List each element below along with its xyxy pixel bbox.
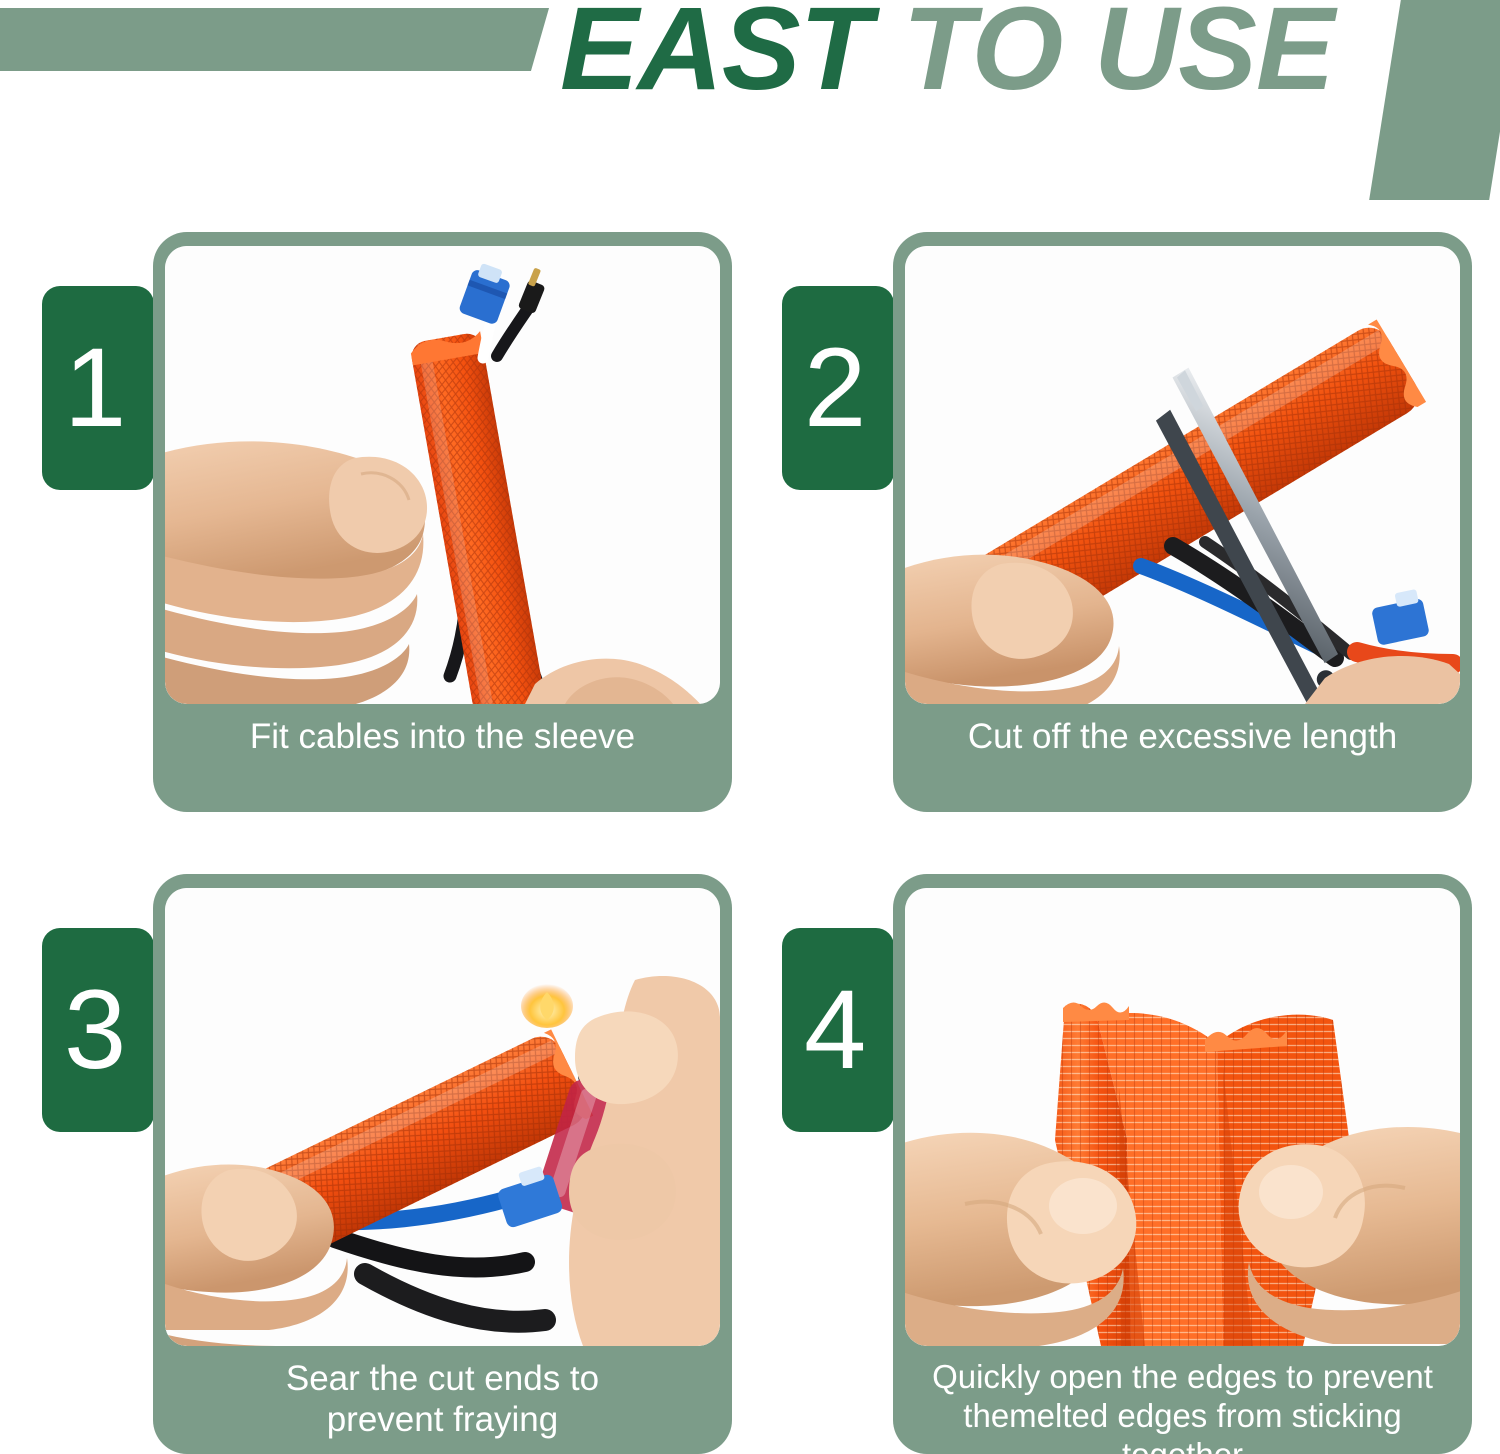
illustration-lighter-searing-sleeve: 90 — [165, 888, 720, 1346]
step-card-frame: 90 — [153, 874, 732, 1454]
step-photo-4 — [905, 888, 1460, 1346]
page-header: EAST TO USE — [0, 0, 1500, 215]
step-number-badge: 2 — [782, 286, 894, 490]
steps-grid: 1 — [0, 232, 1500, 1446]
step-caption: Cut off the excessive length — [893, 704, 1472, 812]
step-number-badge: 1 — [42, 286, 154, 490]
step-caption: Quickly open the edges to prevent themel… — [893, 1346, 1472, 1454]
step-number-badge: 4 — [782, 928, 894, 1132]
step-card-frame: Quickly open the edges to prevent themel… — [893, 874, 1472, 1454]
step-caption-text: Sear the cut ends to prevent fraying — [276, 1358, 609, 1441]
step-caption-text: Cut off the excessive length — [958, 716, 1407, 757]
step-card-2: 2 — [782, 232, 1472, 812]
step-number-label: 4 — [804, 974, 866, 1086]
step-number-label: 2 — [804, 332, 866, 444]
page-title-primary: EAST — [560, 0, 871, 115]
step-card-4: 4 — [782, 874, 1472, 1454]
step-photo-3: 90 — [165, 888, 720, 1346]
header-accent-bar-right — [1369, 0, 1500, 200]
step-card-1: 1 — [42, 232, 732, 812]
step-photo-1 — [165, 246, 720, 704]
page-title-secondary: TO USE — [871, 0, 1334, 115]
illustration-scissors-cutting-sleeve — [905, 246, 1460, 704]
step-number-label: 3 — [64, 974, 126, 1086]
step-caption-text: Fit cables into the sleeve — [240, 716, 645, 757]
page-title: EAST TO USE — [560, 0, 1334, 108]
step-card-frame: Fit cables into the sleeve — [153, 232, 732, 812]
step-photo-2 — [905, 246, 1460, 704]
illustration-hands-opening-sleeve-edges — [905, 888, 1460, 1346]
step-caption-text: Quickly open the edges to prevent themel… — [893, 1358, 1472, 1454]
step-number-label: 1 — [64, 332, 126, 444]
step-card-frame: Cut off the excessive length — [893, 232, 1472, 812]
header-accent-bar-left — [0, 8, 549, 71]
step-number-badge: 3 — [42, 928, 154, 1132]
step-card-3: 3 — [42, 874, 732, 1454]
step-caption: Sear the cut ends to prevent fraying — [153, 1346, 732, 1454]
step-caption: Fit cables into the sleeve — [153, 704, 732, 812]
illustration-hand-sleeve-cables — [165, 246, 720, 704]
